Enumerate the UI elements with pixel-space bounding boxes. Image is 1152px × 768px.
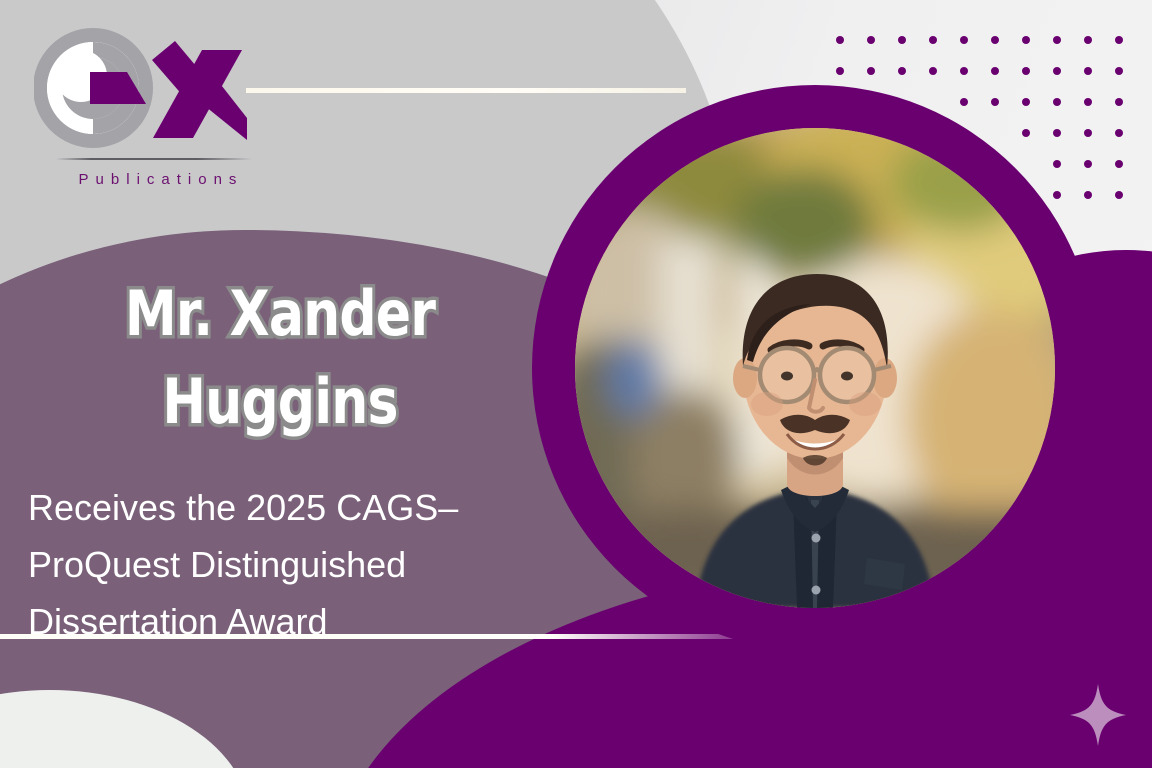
portrait-photo [575,128,1055,608]
dot-grid-dot [867,67,875,75]
dot-grid-dot [1115,160,1123,168]
dot-grid-dot [1053,98,1061,106]
dot-grid-dot [1022,98,1030,106]
dot-grid-dot [1022,129,1030,137]
dot-grid-dot [991,67,999,75]
dot-grid-dot [1084,36,1092,44]
page-title: Mr. Xander Huggins [78,270,481,446]
dot-grid-dot [991,98,999,106]
dot-grid-dot [1084,160,1092,168]
dot-grid-dot [1053,160,1061,168]
dot-grid-dot [1115,36,1123,44]
brand-wordmark: Publications [56,171,266,188]
dot-grid-dot [1084,129,1092,137]
dot-grid-dot [1084,191,1092,199]
dot-grid-dot [929,36,937,44]
dot-grid-dot [960,98,968,106]
dot-grid-dot [1115,67,1123,75]
dot-grid-dot [960,36,968,44]
four-point-sparkle-icon [1070,684,1126,746]
dot-grid-dot [898,36,906,44]
dot-grid-dot [1115,98,1123,106]
top-divider-rule [246,88,686,93]
dot-grid-dot [898,67,906,75]
dot-grid-dot [1022,36,1030,44]
dot-grid-dot [1084,67,1092,75]
dot-grid-dot [1053,67,1061,75]
dot-grid-dot [960,67,968,75]
dot-grid-dot [1022,67,1030,75]
dot-grid-dot [1084,98,1092,106]
dot-grid-dot [1115,191,1123,199]
logo-divider [56,158,252,160]
dot-grid-dot [1053,36,1061,44]
dot-grid-dot [1053,191,1061,199]
portrait-ring [532,85,1098,651]
gx-monogram-icon [34,26,264,151]
dot-grid-dot [836,36,844,44]
award-announcement-poster: Publications [0,0,1152,768]
dot-grid-dot [836,67,844,75]
dot-grid-dot [991,36,999,44]
brand-logo: Publications [34,26,274,196]
dot-grid-dot [1115,129,1123,137]
award-subtitle: Receives the 2025 CAGS–ProQuest Distingu… [28,480,548,651]
dot-grid-dot [1053,129,1061,137]
dot-grid-dot [929,67,937,75]
dot-grid-dot [867,36,875,44]
